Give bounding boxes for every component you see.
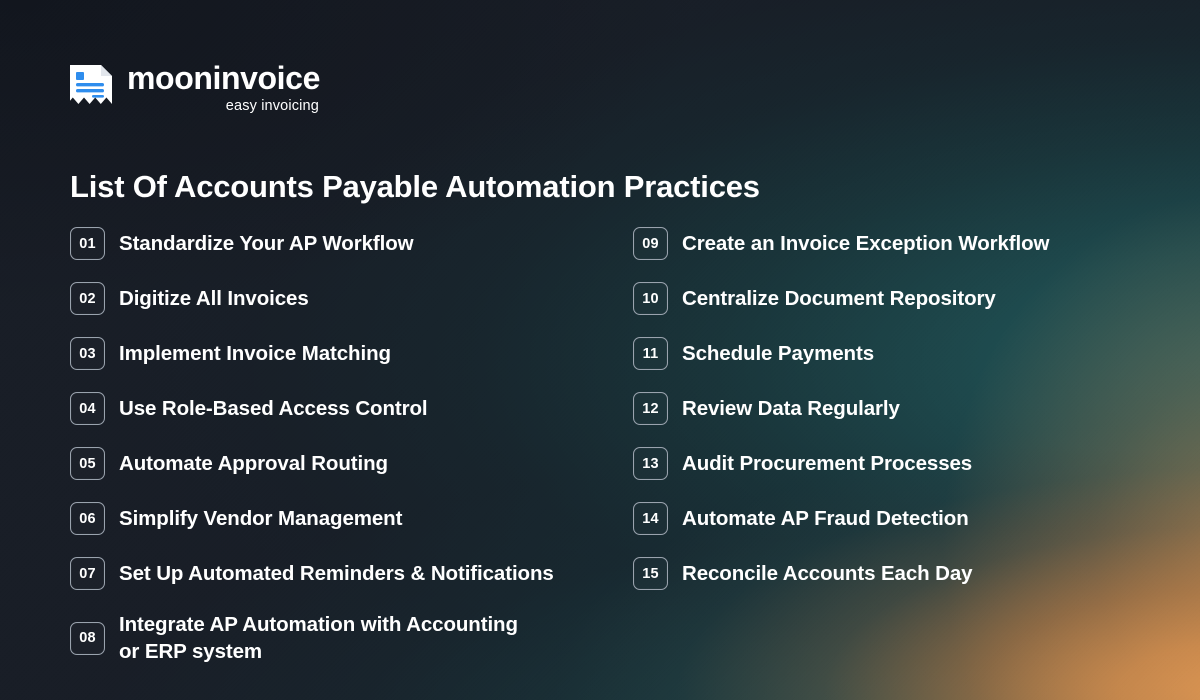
item-label: Integrate AP Automation with Accounting … <box>119 611 518 665</box>
list-item: 10Centralize Document Repository <box>633 271 1173 326</box>
item-label: Centralize Document Repository <box>682 285 996 312</box>
item-number-badge: 06 <box>70 502 105 535</box>
item-label: Audit Procurement Processes <box>682 450 972 477</box>
item-label: Automate AP Fraud Detection <box>682 505 969 532</box>
item-number-badge: 15 <box>633 557 668 590</box>
invoice-document-icon <box>68 63 114 113</box>
list-item: 01Standardize Your AP Workflow <box>70 216 630 271</box>
item-number-badge: 10 <box>633 282 668 315</box>
item-number-badge: 07 <box>70 557 105 590</box>
list-item: 15Reconcile Accounts Each Day <box>633 546 1173 601</box>
list-item: 14Automate AP Fraud Detection <box>633 491 1173 546</box>
item-number-badge: 01 <box>70 227 105 260</box>
item-label: Schedule Payments <box>682 340 874 367</box>
list-item: 07Set Up Automated Reminders & Notificat… <box>70 546 630 601</box>
item-number-badge: 09 <box>633 227 668 260</box>
practices-column-right: 09Create an Invoice Exception Workflow10… <box>633 216 1173 601</box>
page-title: List Of Accounts Payable Automation Prac… <box>70 169 760 205</box>
item-label: Simplify Vendor Management <box>119 505 402 532</box>
list-item: 05Automate Approval Routing <box>70 436 630 491</box>
list-item: 03Implement Invoice Matching <box>70 326 630 381</box>
item-label: Implement Invoice Matching <box>119 340 391 367</box>
brand-name: mooninvoice <box>127 62 320 94</box>
list-item: 13Audit Procurement Processes <box>633 436 1173 491</box>
brand-wordmark: mooninvoice easy invoicing <box>127 62 320 114</box>
list-item: 09Create an Invoice Exception Workflow <box>633 216 1173 271</box>
item-label: Set Up Automated Reminders & Notificatio… <box>119 560 554 587</box>
item-label: Automate Approval Routing <box>119 450 388 477</box>
list-item: 08Integrate AP Automation with Accountin… <box>70 601 630 675</box>
item-label: Use Role-Based Access Control <box>119 395 428 422</box>
item-label: Create an Invoice Exception Workflow <box>682 230 1049 257</box>
infographic-canvas: mooninvoice easy invoicing List Of Accou… <box>0 0 1200 700</box>
list-item: 11Schedule Payments <box>633 326 1173 381</box>
content-root: mooninvoice easy invoicing List Of Accou… <box>0 0 1200 700</box>
item-number-badge: 05 <box>70 447 105 480</box>
brand-logo: mooninvoice easy invoicing <box>68 62 320 114</box>
item-number-badge: 04 <box>70 392 105 425</box>
list-item: 06Simplify Vendor Management <box>70 491 630 546</box>
list-item: 04Use Role-Based Access Control <box>70 381 630 436</box>
item-label: Digitize All Invoices <box>119 285 309 312</box>
item-label: Standardize Your AP Workflow <box>119 230 414 257</box>
item-number-badge: 11 <box>633 337 668 370</box>
item-label: Reconcile Accounts Each Day <box>682 560 972 587</box>
item-number-badge: 12 <box>633 392 668 425</box>
item-number-badge: 13 <box>633 447 668 480</box>
item-number-badge: 14 <box>633 502 668 535</box>
item-label: Review Data Regularly <box>682 395 900 422</box>
brand-tagline: easy invoicing <box>226 99 320 114</box>
practices-column-left: 01Standardize Your AP Workflow02Digitize… <box>70 216 630 675</box>
list-item: 02Digitize All Invoices <box>70 271 630 326</box>
list-item: 12Review Data Regularly <box>633 381 1173 436</box>
item-number-badge: 02 <box>70 282 105 315</box>
item-number-badge: 08 <box>70 622 105 655</box>
item-number-badge: 03 <box>70 337 105 370</box>
